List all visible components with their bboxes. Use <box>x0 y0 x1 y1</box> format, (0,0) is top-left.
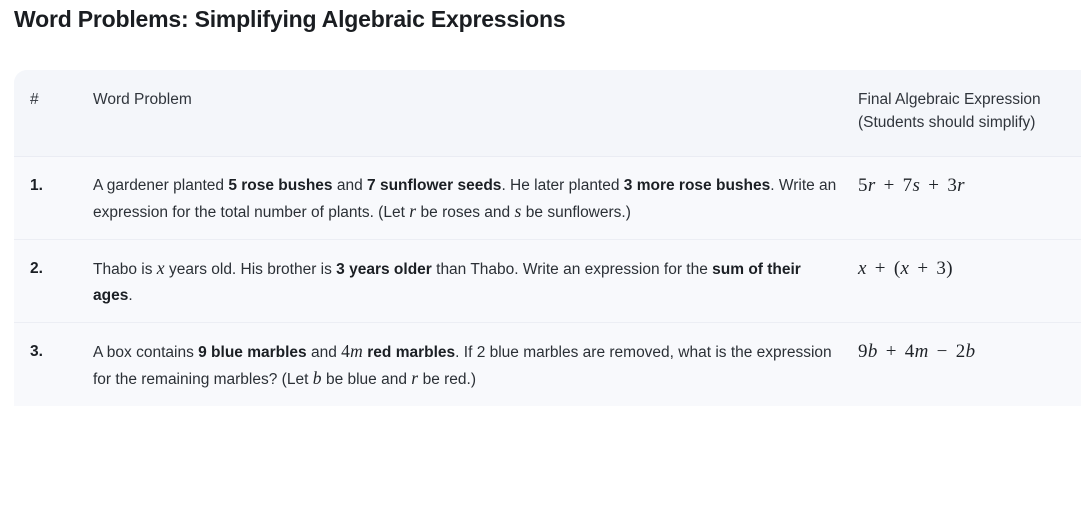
table-row: 3.A box contains 9 blue marbles and 4m r… <box>14 323 1081 407</box>
column-header-final-expression: Final Algebraic Expression (Students sho… <box>855 70 1081 157</box>
word-problems-table-container: # Word Problem Final Algebraic Expressio… <box>14 70 1081 406</box>
table-header-row: # Word Problem Final Algebraic Expressio… <box>14 70 1081 157</box>
page-title: Word Problems: Simplifying Algebraic Exp… <box>14 4 565 34</box>
math-expression: x + (x + 3) <box>858 258 953 279</box>
inline-math: b <box>313 368 322 388</box>
emphasis: 9 blue marbles <box>198 344 307 361</box>
emphasis: red marbles <box>367 344 455 361</box>
table-header: # Word Problem Final Algebraic Expressio… <box>14 70 1081 157</box>
emphasis: 7 sunflower seeds <box>367 177 501 194</box>
math-expression: 5r + 7s + 3r <box>858 175 965 196</box>
emphasis: 3 more rose bushes <box>624 177 770 194</box>
document-page: Word Problems: Simplifying Algebraic Exp… <box>0 0 1081 522</box>
inline-math: x <box>157 258 165 278</box>
word-problem-text: A box contains 9 blue marbles and 4m red… <box>93 323 855 407</box>
math-expression: 9b + 4m − 2b <box>858 341 975 362</box>
emphasis: 5 rose bushes <box>228 177 332 194</box>
table-row: 2.Thabo is x years old. His brother is 3… <box>14 240 1081 323</box>
column-header-number: # <box>14 70 93 157</box>
word-problem-text: Thabo is x years old. His brother is 3 y… <box>93 240 855 323</box>
word-problems-table: # Word Problem Final Algebraic Expressio… <box>14 70 1081 406</box>
inline-math: s <box>514 201 521 221</box>
table-row: 1.A gardener planted 5 rose bushes and 7… <box>14 157 1081 240</box>
row-number: 3. <box>14 323 93 407</box>
inline-math: r <box>409 201 416 221</box>
row-number: 2. <box>14 240 93 323</box>
row-number: 1. <box>14 157 93 240</box>
column-header-word-problem: Word Problem <box>93 70 855 157</box>
final-expression: 9b + 4m − 2b <box>855 323 1081 407</box>
inline-math: r <box>411 368 418 388</box>
emphasis: sum of their ages <box>93 261 801 304</box>
inline-math: 4m <box>341 341 363 361</box>
word-problem-text: A gardener planted 5 rose bushes and 7 s… <box>93 157 855 240</box>
final-expression: x + (x + 3) <box>855 240 1081 323</box>
final-expression: 5r + 7s + 3r <box>855 157 1081 240</box>
emphasis: 3 years older <box>336 261 432 278</box>
table-body: 1.A gardener planted 5 rose bushes and 7… <box>14 157 1081 407</box>
